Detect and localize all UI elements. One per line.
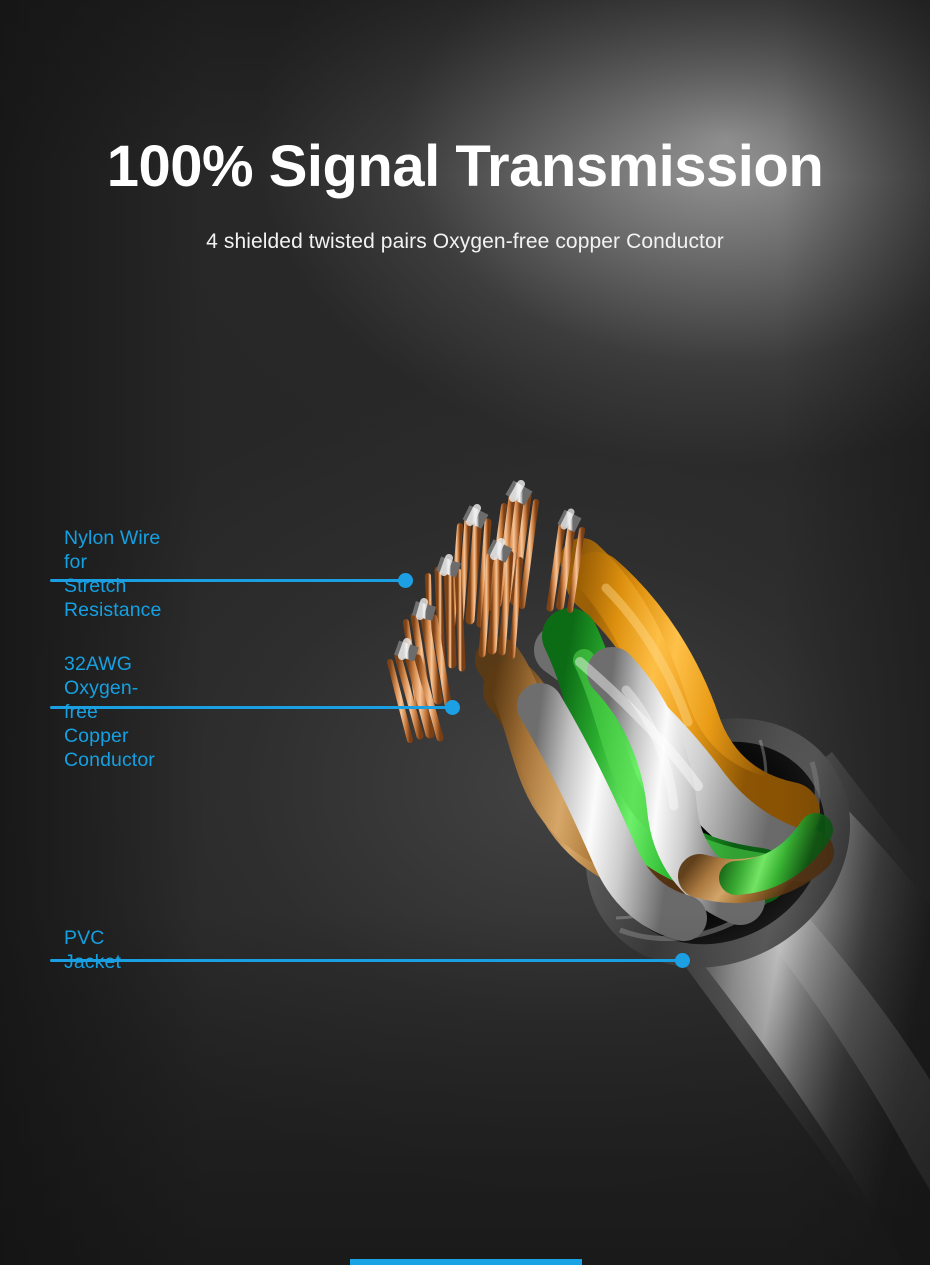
- callout-nylon-wire-leader-line: [50, 579, 406, 582]
- callout-pvc-jacket-label: PVC Jacket: [64, 926, 121, 974]
- callout-copper-conductor-leader-line: [50, 706, 453, 709]
- page-title: 100% Signal Transmission: [0, 137, 930, 197]
- callout-pvc-jacket-leader-dot: [675, 953, 690, 968]
- callout-copper-conductor-leader-dot: [445, 700, 460, 715]
- bottom-accent-bar: [350, 1259, 582, 1265]
- callout-copper-conductor-label: 32AWG Oxygen-free Copper Conductor: [64, 652, 155, 772]
- page-subtitle: 4 shielded twisted pairs Oxygen-free cop…: [0, 230, 930, 254]
- callout-pvc-jacket-leader-line: [50, 959, 683, 962]
- marketing-banner: 100% Signal Transmission 4 shielded twis…: [0, 0, 930, 1265]
- callout-nylon-wire-leader-dot: [398, 573, 413, 588]
- callout-nylon-wire-label: Nylon Wire for Stretch Resistance: [64, 526, 161, 622]
